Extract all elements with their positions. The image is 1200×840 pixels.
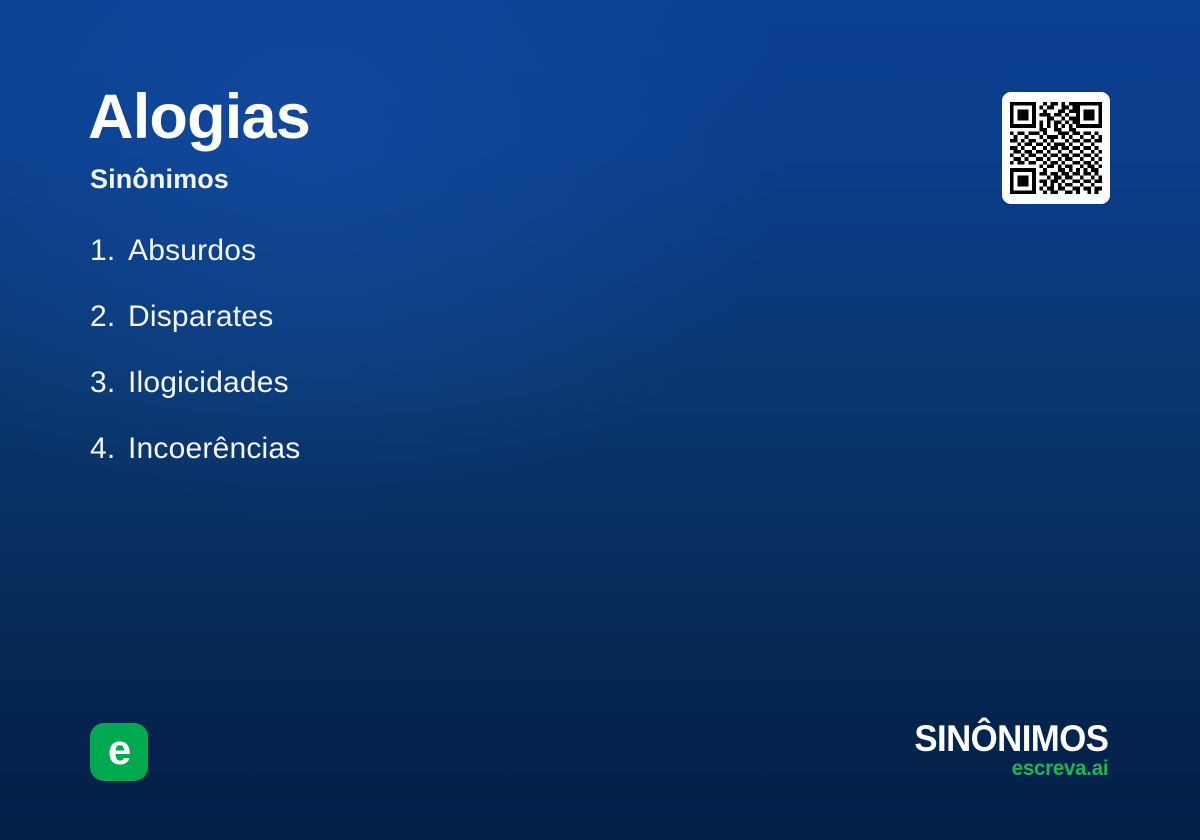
brand-lockup: SINÔNIMOS escreva.ai (902, 722, 1108, 779)
list-item-label: Disparates (128, 300, 273, 333)
page-subtitle: Sinônimos (90, 166, 229, 193)
synonyms-list: 1.Absurdos 2.Disparates 3.Ilogicidades 4… (90, 236, 850, 500)
list-item-number: 2. (90, 302, 128, 332)
list-item: 3.Ilogicidades (90, 368, 850, 398)
qr-code-icon (1010, 102, 1102, 194)
badge-letter: e (108, 729, 130, 771)
synonyms-card: Alogias Sinônimos 1.Absurdos 2.Disparate… (0, 0, 1200, 840)
escreva-e-badge-icon[interactable]: e (90, 723, 148, 781)
list-item-label: Ilogicidades (128, 366, 289, 399)
brand-domain: escreva.ai (908, 758, 1108, 779)
list-item-number: 4. (90, 434, 128, 464)
brand-name: SINÔNIMOS (914, 722, 1108, 756)
page-title: Alogias (88, 86, 310, 149)
list-item-number: 1. (90, 236, 128, 266)
list-item-number: 3. (90, 368, 128, 398)
list-item-label: Incoerências (128, 432, 301, 465)
list-item: 2.Disparates (90, 302, 850, 332)
list-item-label: Absurdos (128, 234, 256, 267)
list-item: 4.Incoerências (90, 434, 850, 464)
qr-code[interactable] (1002, 92, 1110, 204)
list-item: 1.Absurdos (90, 236, 850, 266)
